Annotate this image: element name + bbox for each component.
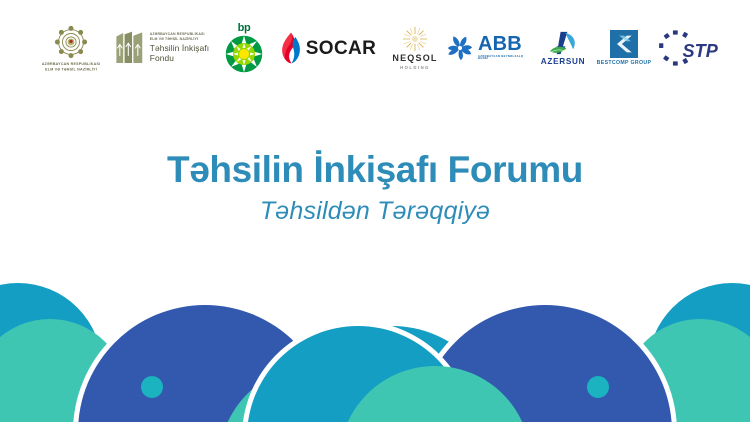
sponsor-logo-abb-sub: AZƏRBAYCAN BEYNƏLXALQ BANKI xyxy=(478,56,532,61)
sponsor-logo-abb-wordmark: ABB xyxy=(478,35,532,54)
sponsor-logo-azersun: AZERSUN xyxy=(532,30,594,66)
forum-subtitle: Təhsildən Tərəqqiyə xyxy=(0,198,750,226)
neqsol-starburst-icon xyxy=(402,26,428,52)
ministry-emblem-icon xyxy=(54,25,88,59)
sponsor-logo-stp: STP xyxy=(654,29,726,67)
socar-flame-icon xyxy=(280,32,302,64)
decorative-circles xyxy=(0,247,750,422)
sponsor-logo-fund-name-line2: Fondu xyxy=(150,54,209,64)
sponsor-logo-bar: AZƏRBAYCAN RESPUBLİKASI ELM VƏ TƏHSİL NA… xyxy=(0,0,750,96)
svg-text:STP: STP xyxy=(683,41,719,61)
sponsor-logo-neqsol-holding: NEQSOL HOLDING xyxy=(384,26,446,70)
sponsor-logo-fund-ministry-line: AZƏRBAYCAN RESPUBLİKASI ELM VƏ TƏHSİL NA… xyxy=(150,32,209,43)
sponsor-logo-azersun-wordmark: AZERSUN xyxy=(541,58,585,66)
sponsor-logo-bestcomp-wordmark: BESTCOMP GROUP xyxy=(597,61,652,66)
sponsor-logo-socar-wordmark: SOCAR xyxy=(306,39,377,58)
sponsor-logo-ministry-of-science-and-education: AZƏRBAYCAN RESPUBLİKASI ELM VƏ TƏHSİL NA… xyxy=(34,25,108,72)
sponsor-logo-bp: bp xyxy=(216,23,272,73)
sponsor-logo-neqsol-wordmark: NEQSOL xyxy=(392,54,437,63)
sponsor-logo-abb: ABB AZƏRBAYCAN BEYNƏLXALQ BANKI xyxy=(446,34,532,62)
azersun-leaf-a-icon xyxy=(546,30,580,57)
sponsor-logo-bestcomp-group: BESTCOMP GROUP xyxy=(594,30,654,66)
sponsor-logo-tahsilin-inkisafi-fondu: AZƏRBAYCAN RESPUBLİKASI ELM VƏ TƏHSİL NA… xyxy=(108,31,216,65)
abb-pinwheel-icon xyxy=(446,34,474,62)
sponsor-logo-bp-wordmark: bp xyxy=(238,23,251,34)
bestcomp-chain-icon xyxy=(610,30,638,58)
sponsor-logo-socar: SOCAR xyxy=(272,32,384,64)
forum-title: Təhsilin İnkişafı Forumu xyxy=(0,150,750,190)
stp-gear-icon: STP xyxy=(658,29,722,67)
sponsor-logo-ministry-label: AZƏRBAYCAN RESPUBLİKASI ELM VƏ TƏHSİL NA… xyxy=(42,61,101,71)
bp-helios-icon xyxy=(225,35,263,73)
title-block: Təhsilin İnkişafı Forumu Təhsildən Tərəq… xyxy=(0,150,750,225)
forum-poster: AZƏRBAYCAN RESPUBLİKASI ELM VƏ TƏHSİL NA… xyxy=(0,0,750,422)
fund-pages-icon xyxy=(115,31,145,65)
sponsor-logo-neqsol-sub: HOLDING xyxy=(400,66,430,70)
